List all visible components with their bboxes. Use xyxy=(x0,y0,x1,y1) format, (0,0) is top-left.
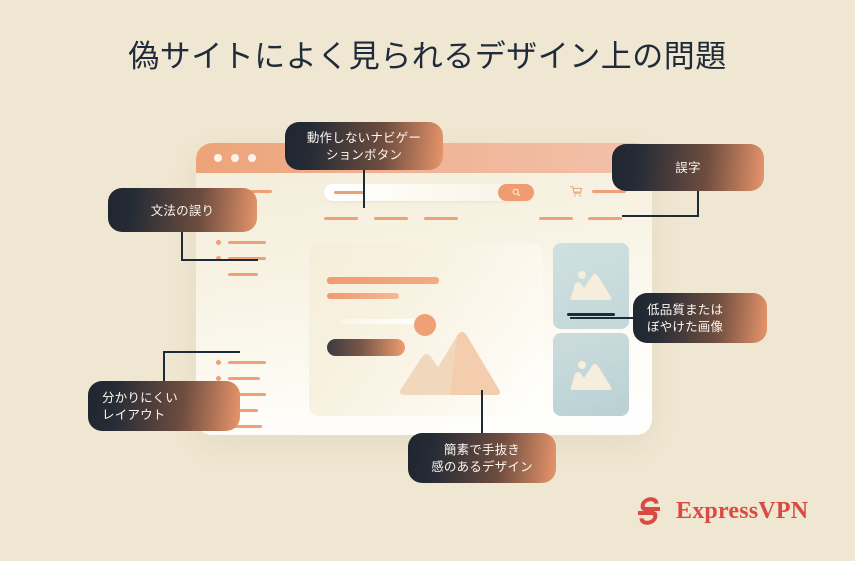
connector-nav xyxy=(363,168,365,208)
connector-grammar xyxy=(176,228,260,268)
connector-typo xyxy=(620,188,710,224)
browser-toolbar xyxy=(196,173,652,209)
hero-heading-bar xyxy=(327,277,439,284)
hero-cta-button[interactable] xyxy=(327,339,405,356)
callout-text: 分かりにくい レイアウト xyxy=(102,389,178,423)
nav-item-dash[interactable] xyxy=(588,217,622,220)
nav-item-dash[interactable] xyxy=(374,217,408,220)
mountain-image-placeholder-icon xyxy=(568,267,614,301)
search-icon xyxy=(512,188,521,197)
callout-text: 誤字 xyxy=(675,159,700,176)
window-dot-icon xyxy=(231,154,239,162)
callout-broken-navigation[interactable]: 動作しないナビゲー ションボタン xyxy=(285,122,443,170)
nav-bar xyxy=(196,215,652,225)
callout-grammar-errors[interactable]: 文法の誤り xyxy=(108,188,257,232)
side-card xyxy=(553,333,629,416)
search-input[interactable] xyxy=(324,184,534,201)
window-dot-icon xyxy=(248,154,256,162)
search-button[interactable] xyxy=(498,184,534,201)
list-item[interactable] xyxy=(216,267,300,283)
mountain-image-placeholder-icon xyxy=(395,303,505,403)
search-placeholder-bar xyxy=(334,191,364,194)
infographic-canvas: 偽サイトによく見られるデザイン上の問題 xyxy=(0,0,855,561)
list-item-bar xyxy=(228,273,258,276)
side-card-caption-bar xyxy=(567,313,615,316)
nav-item-dash[interactable] xyxy=(424,217,458,220)
callout-text: 低品質または ぼやけた画像 xyxy=(647,301,723,335)
brand-name: ExpressVPN xyxy=(676,498,808,525)
page-title: 偽サイトによく見られるデザイン上の問題 xyxy=(0,36,855,78)
hero-card xyxy=(309,243,543,416)
nav-item-dash[interactable] xyxy=(324,217,358,220)
callout-typos[interactable]: 誤字 xyxy=(612,144,764,191)
window-controls xyxy=(214,154,256,162)
callout-sloppy-design[interactable]: 簡素で手抜き 感のあるデザイン xyxy=(408,433,556,483)
expressvpn-logo-mark-icon xyxy=(632,494,666,528)
connector-image xyxy=(570,317,638,319)
callout-text: 簡素で手抜き 感のあるデザイン xyxy=(431,441,533,475)
cart-icon[interactable] xyxy=(570,185,583,198)
sidebar-gap xyxy=(216,283,300,355)
mountain-image-placeholder-icon xyxy=(568,357,614,391)
callout-text: 動作しないナビゲー ションボタン xyxy=(307,129,421,163)
window-dot-icon xyxy=(214,154,222,162)
nav-item-dash[interactable] xyxy=(539,217,573,220)
callout-low-quality-images[interactable]: 低品質または ぼやけた画像 xyxy=(633,293,767,343)
hero-subheading-bar xyxy=(327,293,399,299)
expressvpn-logo: ExpressVPN xyxy=(632,492,808,530)
browser-mockup xyxy=(196,143,652,435)
callout-text: 文法の誤り xyxy=(151,202,215,219)
callout-confusing-layout[interactable]: 分かりにくい レイアウト xyxy=(88,381,240,431)
